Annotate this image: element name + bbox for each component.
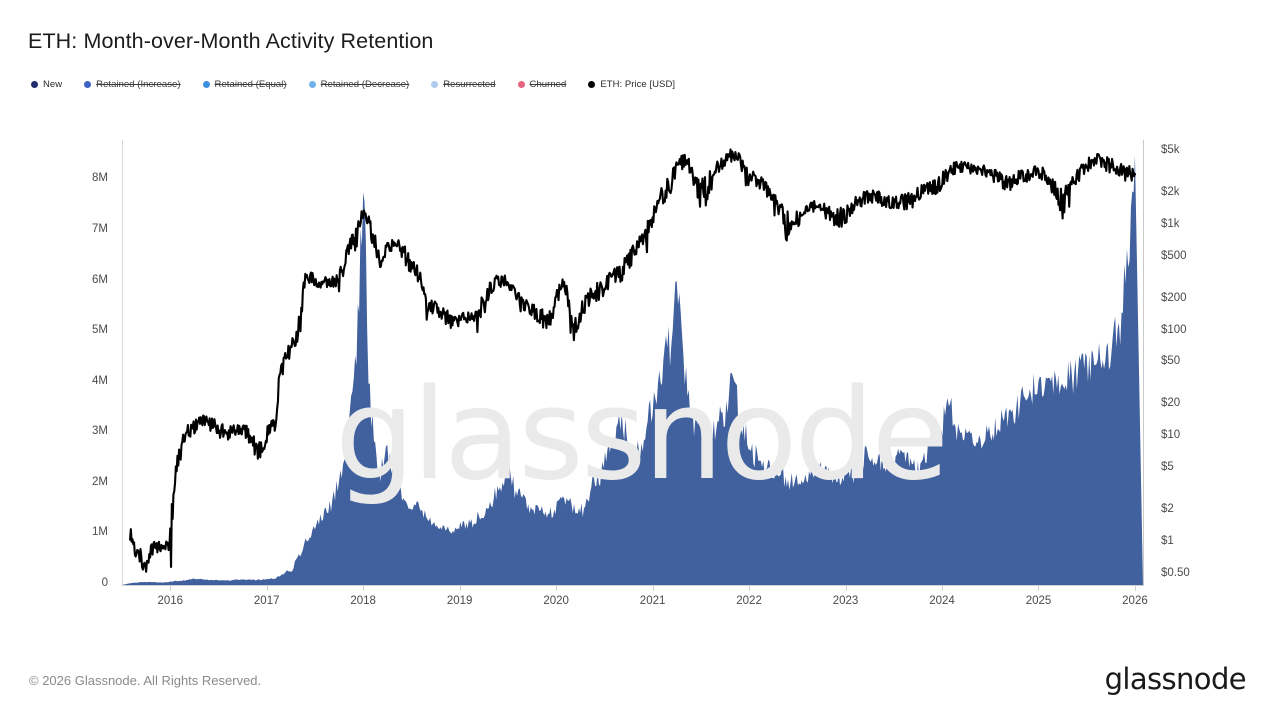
x-axis-tick: 2019 <box>442 595 478 607</box>
x-axis-tick-mark <box>363 586 364 591</box>
legend-item-churned[interactable]: Churned <box>518 80 567 90</box>
y-axis-left-tick: 5M <box>92 324 108 336</box>
chart-svg <box>122 140 1143 585</box>
legend-item-new[interactable]: New <box>31 80 62 90</box>
chart-card: ETH: Month-over-Month Activity Retention… <box>0 0 1280 720</box>
y-axis-right-tick: $1k <box>1161 218 1180 230</box>
y-axis-left-tick: 0 <box>102 577 108 589</box>
y-axis-right-tick: $10 <box>1161 429 1180 441</box>
y-axis-left-tick: 2M <box>92 476 108 488</box>
x-axis-tick-mark <box>556 586 557 591</box>
x-axis-tick: 2016 <box>152 595 188 607</box>
x-axis-tick-mark <box>1038 586 1039 591</box>
x-axis-tick-mark <box>267 586 268 591</box>
x-axis-tick: 2025 <box>1020 595 1056 607</box>
legend-item-retained-increase[interactable]: Retained (Increase) <box>84 80 180 90</box>
x-axis-tick: 2017 <box>249 595 285 607</box>
legend-item-label: New <box>43 80 62 90</box>
y-axis-right-tick: $50 <box>1161 355 1180 367</box>
x-axis-tick: 2021 <box>635 595 671 607</box>
legend-item-retained-decrease[interactable]: Retained (Decrease) <box>309 80 410 90</box>
legend-dot-icon <box>518 81 525 88</box>
y-axis-right-tick: $0.50 <box>1161 567 1190 579</box>
glassnode-logo: glassnode <box>1105 662 1246 696</box>
y-axis-left-tick: 7M <box>92 223 108 235</box>
x-axis-tick-mark <box>749 586 750 591</box>
x-axis-tick: 2022 <box>731 595 767 607</box>
y-axis-right-tick: $100 <box>1161 324 1187 336</box>
y-axis-right-tick: $5k <box>1161 144 1180 156</box>
y-axis-right-tick: $20 <box>1161 397 1180 409</box>
footer-copyright: © 2026 Glassnode. All Rights Reserved. <box>29 673 261 688</box>
legend-dot-icon <box>203 81 210 88</box>
legend-dot-icon <box>84 81 91 88</box>
x-axis-tick: 2026 <box>1117 595 1153 607</box>
legend-dot-icon <box>31 81 38 88</box>
legend-item-label: Retained (Equal) <box>215 80 287 90</box>
legend-item-label: Churned <box>530 80 567 90</box>
x-axis-tick: 2020 <box>538 595 574 607</box>
x-axis-tick-mark <box>653 586 654 591</box>
y-axis-right-tick: $500 <box>1161 250 1187 262</box>
x-axis-tick-mark <box>460 586 461 591</box>
legend-item-resurrected[interactable]: Resurrected <box>431 80 495 90</box>
legend-dot-icon <box>588 81 595 88</box>
x-axis-tick-mark <box>170 586 171 591</box>
y-axis-right-line <box>1143 140 1144 586</box>
y-axis-left-tick: 1M <box>92 526 108 538</box>
y-axis-left-tick: 8M <box>92 172 108 184</box>
page-title: ETH: Month-over-Month Activity Retention <box>28 29 434 54</box>
legend-item-label: Resurrected <box>443 80 495 90</box>
legend-dot-icon <box>309 81 316 88</box>
y-axis-left-tick: 4M <box>92 375 108 387</box>
y-axis-right-tick: $2 <box>1161 503 1174 515</box>
y-axis-left-tick: 3M <box>92 425 108 437</box>
x-axis-tick-mark <box>942 586 943 591</box>
y-axis-left-tick: 6M <box>92 274 108 286</box>
legend-dot-icon <box>431 81 438 88</box>
x-axis-tick-mark <box>846 586 847 591</box>
y-axis-right-tick: $2k <box>1161 186 1180 198</box>
legend-item-retained-equal[interactable]: Retained (Equal) <box>203 80 287 90</box>
x-axis-tick: 2018 <box>345 595 381 607</box>
x-axis-tick: 2023 <box>828 595 864 607</box>
legend-item-label: ETH: Price [USD] <box>600 80 675 90</box>
y-axis-right-tick: $200 <box>1161 292 1187 304</box>
plot-area[interactable]: glassnode <box>122 140 1143 585</box>
legend-item-eth-price-usd[interactable]: ETH: Price [USD] <box>588 80 675 90</box>
x-axis-tick-mark <box>1135 586 1136 591</box>
x-axis-tick: 2024 <box>924 595 960 607</box>
legend-item-label: Retained (Decrease) <box>321 80 410 90</box>
legend-item-label: Retained (Increase) <box>96 80 180 90</box>
y-axis-right-tick: $1 <box>1161 535 1174 547</box>
area-series-new <box>122 155 1143 585</box>
x-axis-line <box>122 585 1144 586</box>
y-axis-right-tick: $5 <box>1161 461 1174 473</box>
chart-legend: NewRetained (Increase)Retained (Equal)Re… <box>31 80 697 90</box>
